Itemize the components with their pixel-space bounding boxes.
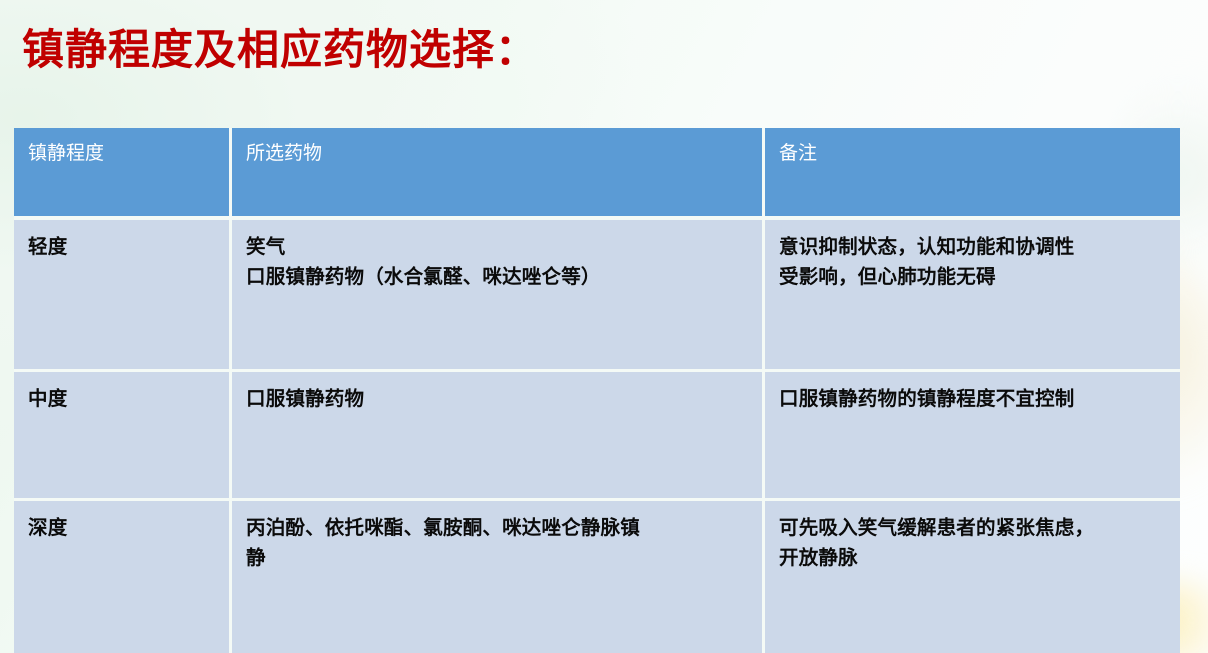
table-header: 镇静程度 所选药物 备注 — [14, 128, 1180, 220]
cell-line: 口服镇静药物（水合氯醛、咪达唑仑等） — [246, 264, 750, 292]
column-header-selected-drugs: 所选药物 — [232, 128, 765, 220]
cell-line: 意识抑制状态，认知功能和协调性 — [779, 234, 1168, 262]
table-body: 轻度 笑气 口服镇静药物（水合氯醛、咪达唑仑等） 意识抑制状态，认知功能和协调性… — [14, 220, 1180, 653]
cell-line: 口服镇静药物 — [246, 386, 750, 414]
table-header-row: 镇静程度 所选药物 备注 — [14, 128, 1180, 220]
cell-notes-moderate: 口服镇静药物的镇静程度不宜控制 — [765, 372, 1180, 501]
table-row: 中度 口服镇静药物 口服镇静药物的镇静程度不宜控制 — [14, 372, 1180, 501]
cell-line: 可先吸入笑气缓解患者的紧张焦虑， — [779, 515, 1168, 543]
cell-level-deep: 深度 — [14, 501, 232, 653]
table-row: 深度 丙泊酚、依托咪酯、氯胺酮、咪达唑仑静脉镇 静 可先吸入笑气缓解患者的紧张焦… — [14, 501, 1180, 653]
page-title: 镇静程度及相应药物选择： — [22, 26, 538, 73]
table-row: 轻度 笑气 口服镇静药物（水合氯醛、咪达唑仑等） 意识抑制状态，认知功能和协调性… — [14, 220, 1180, 372]
cell-line: 开放静脉 — [779, 545, 1168, 573]
cell-line: 受影响，但心肺功能无碍 — [779, 264, 1168, 292]
cell-drugs-moderate: 口服镇静药物 — [232, 372, 765, 501]
cell-drugs-mild: 笑气 口服镇静药物（水合氯醛、咪达唑仑等） — [232, 220, 765, 372]
sedation-level-table: 镇静程度 所选药物 备注 轻度 笑气 口服镇静药物（水合氯醛、咪达唑仑等） 意识… — [14, 128, 1180, 653]
cell-line: 口服镇静药物的镇静程度不宜控制 — [779, 386, 1168, 414]
cell-notes-mild: 意识抑制状态，认知功能和协调性 受影响，但心肺功能无碍 — [765, 220, 1180, 372]
slide-canvas: 镇静程度及相应药物选择： 镇静程度 所选药物 备注 轻度 笑气 口服镇静药物（水… — [0, 0, 1208, 653]
column-header-sedation-level: 镇静程度 — [14, 128, 232, 220]
cell-drugs-deep: 丙泊酚、依托咪酯、氯胺酮、咪达唑仑静脉镇 静 — [232, 501, 765, 653]
cell-line: 丙泊酚、依托咪酯、氯胺酮、咪达唑仑静脉镇 — [246, 515, 750, 543]
cell-level-mild: 轻度 — [14, 220, 232, 372]
cell-notes-deep: 可先吸入笑气缓解患者的紧张焦虑， 开放静脉 — [765, 501, 1180, 653]
column-header-remarks: 备注 — [765, 128, 1180, 220]
cell-line: 静 — [246, 545, 750, 573]
cell-line: 笑气 — [246, 234, 750, 262]
cell-level-moderate: 中度 — [14, 372, 232, 501]
